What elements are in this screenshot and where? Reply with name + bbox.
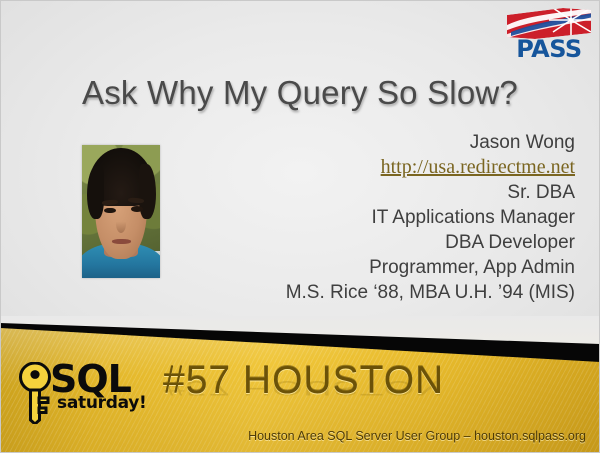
speaker-website-link[interactable]: http://usa.redirectme.net xyxy=(381,156,575,178)
speaker-title-1: Sr. DBA xyxy=(155,180,575,205)
pass-logo: PASS xyxy=(505,6,593,64)
speaker-title-3: DBA Developer xyxy=(155,230,575,255)
speaker-bio: Jason Wong http://usa.redirectme.net Sr.… xyxy=(155,130,575,305)
speaker-photo xyxy=(82,145,160,278)
event-banner: SQL saturday! #57 HOUSTON #57 HOUSTON Ho… xyxy=(0,316,600,453)
pass-wordmark: PASS xyxy=(505,36,593,62)
photo-hair-left xyxy=(87,166,104,219)
banner-tagline: Houston Area SQL Server User Group – hou… xyxy=(248,429,586,443)
speaker-title-4: Programmer, App Admin xyxy=(155,255,575,280)
speaker-name: Jason Wong xyxy=(155,130,575,155)
slide-title: Ask Why My Query So Slow? xyxy=(0,74,600,112)
sqlsaturday-logo-saturday: saturday! xyxy=(57,394,146,412)
speaker-website-line: http://usa.redirectme.net xyxy=(155,155,575,180)
event-name: #57 HOUSTON xyxy=(163,360,444,402)
speaker-education: M.S. Rice ‘88, MBA U.H. ’94 (MIS) xyxy=(155,280,575,305)
presentation-slide: PASS Ask Why My Query So Slow? Jason Won… xyxy=(0,0,600,453)
photo-eye-left xyxy=(104,208,116,214)
speaker-title-2: IT Applications Manager xyxy=(155,205,575,230)
photo-mouth xyxy=(112,239,131,244)
